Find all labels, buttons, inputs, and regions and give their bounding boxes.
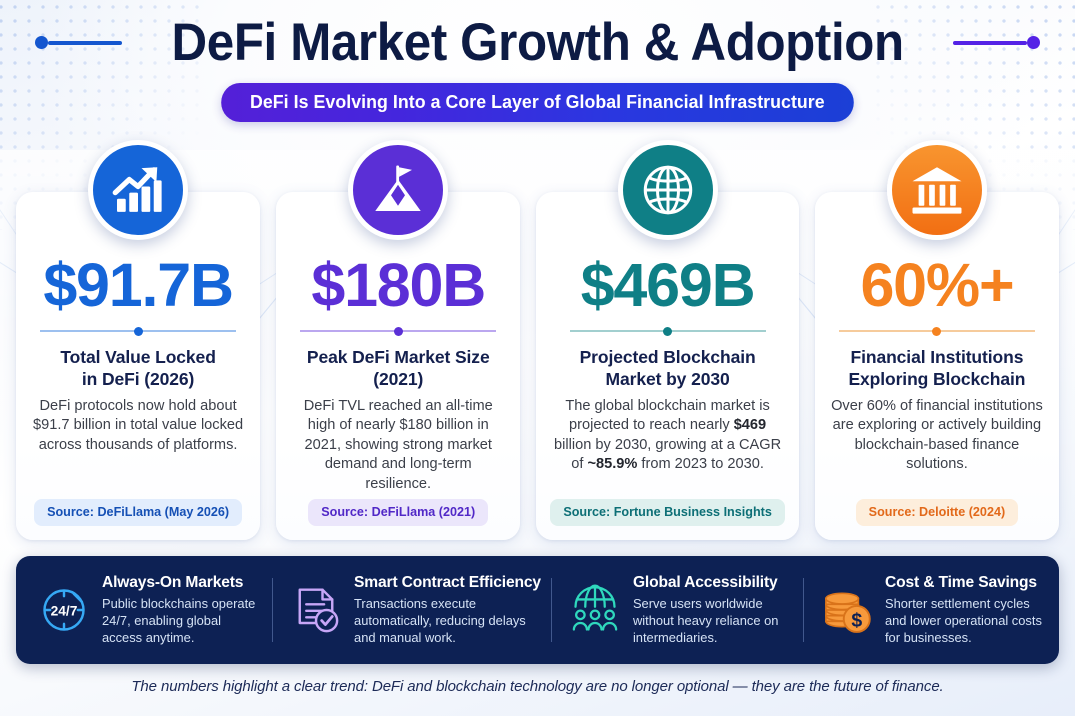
stat-title: Projected Blockchain Market by 2030 bbox=[580, 347, 756, 390]
benefit-title: Global Accessibility bbox=[633, 574, 778, 591]
clock-247-icon: 24/7 bbox=[36, 582, 92, 638]
stat-description: Over 60% of financial institutions are e… bbox=[829, 397, 1045, 475]
benefit-description: Public blockchains operate 24/7, enablin… bbox=[102, 595, 262, 646]
subtitle-pill-wrap: DeFi Is Evolving Into a Core Layer of Gl… bbox=[0, 83, 1075, 122]
globe-people-icon bbox=[567, 582, 623, 638]
stat-divider bbox=[839, 325, 1035, 337]
stat-description: DeFi TVL reached an all-time high of nea… bbox=[290, 397, 506, 494]
stat-divider bbox=[300, 325, 496, 337]
benefit-description: Serve users worldwide without heavy reli… bbox=[633, 595, 793, 646]
benefit-text: Always-On Markets Public blockchains ope… bbox=[102, 574, 262, 645]
source-badge: Source: Fortune Business Insights bbox=[550, 499, 785, 526]
title-rule-left-icon bbox=[35, 36, 122, 49]
source-row: Source: DeFiLlama (2021) bbox=[290, 499, 506, 528]
stat-title-line-1: Peak DeFi Market Size bbox=[307, 347, 490, 368]
stat-title-line-1: Projected Blockchain bbox=[580, 347, 756, 368]
benefit-title: Cost & Time Savings bbox=[885, 574, 1037, 591]
stat-card: $91.7B Total Value Locked in DeFi (2026)… bbox=[16, 192, 260, 540]
stat-card: 60%+ Financial Institutions Exploring Bl… bbox=[815, 192, 1059, 540]
stat-cards: $91.7B Total Value Locked in DeFi (2026)… bbox=[16, 192, 1059, 540]
benefit-item: Smart Contract Efficiency Transactions e… bbox=[272, 566, 551, 654]
stat-title-line-2: Market by 2030 bbox=[580, 369, 756, 390]
benefit-title: Always-On Markets bbox=[102, 574, 243, 591]
title-row: DeFi Market Growth & Adoption bbox=[0, 16, 1075, 69]
stat-title: Peak DeFi Market Size (2021) bbox=[307, 347, 490, 390]
stat-value: $91.7B bbox=[43, 254, 233, 316]
benefit-item: Global Accessibility Serve users worldwi… bbox=[551, 566, 803, 654]
header: DeFi Market Growth & Adoption DeFi Is Ev… bbox=[0, 16, 1075, 122]
stat-divider bbox=[40, 325, 236, 337]
coin-stack-dollar-icon: $ bbox=[819, 582, 875, 638]
growth-chart-icon bbox=[88, 140, 188, 240]
mountain-flag-icon bbox=[348, 140, 448, 240]
stat-title-line-2: (2021) bbox=[307, 369, 490, 390]
stat-title-line-2: Exploring Blockchain bbox=[848, 369, 1025, 390]
stat-title: Total Value Locked in DeFi (2026) bbox=[60, 347, 215, 390]
stat-title-line-2: in DeFi (2026) bbox=[60, 369, 215, 390]
bank-building-icon bbox=[887, 140, 987, 240]
stat-value: $469B bbox=[581, 254, 755, 316]
source-row: Source: DeFiLlama (May 2026) bbox=[30, 499, 246, 528]
footer-note: The numbers highlight a clear trend: DeF… bbox=[0, 678, 1075, 695]
svg-text:24/7: 24/7 bbox=[51, 603, 78, 619]
stat-card: $180B Peak DeFi Market Size (2021) DeFi … bbox=[276, 192, 520, 540]
stat-title-line-1: Total Value Locked bbox=[60, 347, 215, 368]
stat-card: $469B Projected Blockchain Market by 203… bbox=[536, 192, 799, 540]
source-badge: Source: Deloitte (2024) bbox=[856, 499, 1018, 526]
stat-title: Financial Institutions Exploring Blockch… bbox=[848, 347, 1025, 390]
source-row: Source: Fortune Business Insights bbox=[550, 499, 785, 528]
stat-title-line-1: Financial Institutions bbox=[848, 347, 1025, 368]
stat-value: $180B bbox=[311, 254, 485, 316]
stat-divider bbox=[570, 325, 766, 337]
source-badge: Source: DeFiLlama (2021) bbox=[308, 499, 488, 526]
document-check-icon bbox=[288, 582, 344, 638]
benefits-bar: 24/7 Always-On Markets Public blockchain… bbox=[16, 556, 1059, 664]
title-rule-right-icon bbox=[953, 36, 1040, 49]
benefit-text: Smart Contract Efficiency Transactions e… bbox=[354, 574, 541, 645]
benefit-text: Cost & Time Savings Shorter settlement c… bbox=[885, 574, 1045, 645]
stat-description: The global blockchain market is projecte… bbox=[550, 397, 785, 475]
benefit-text: Global Accessibility Serve users worldwi… bbox=[633, 574, 793, 645]
benefit-item: $ Cost & Time Savings Shorter settlement… bbox=[803, 566, 1055, 654]
globe-grid-icon bbox=[618, 140, 718, 240]
stat-value: 60%+ bbox=[860, 254, 1013, 316]
stat-description: DeFi protocols now hold about $91.7 bill… bbox=[30, 397, 246, 455]
source-badge: Source: DeFiLlama (May 2026) bbox=[34, 499, 242, 526]
benefit-description: Shorter settlement cycles and lower oper… bbox=[885, 595, 1045, 646]
benefit-title: Smart Contract Efficiency bbox=[354, 574, 541, 591]
page-title: DeFi Market Growth & Adoption bbox=[171, 16, 903, 69]
subtitle-pill: DeFi Is Evolving Into a Core Layer of Gl… bbox=[221, 83, 853, 122]
benefit-item: 24/7 Always-On Markets Public blockchain… bbox=[20, 566, 272, 654]
svg-text:$: $ bbox=[851, 609, 862, 631]
benefit-description: Transactions execute automatically, redu… bbox=[354, 595, 541, 646]
source-row: Source: Deloitte (2024) bbox=[829, 499, 1045, 528]
